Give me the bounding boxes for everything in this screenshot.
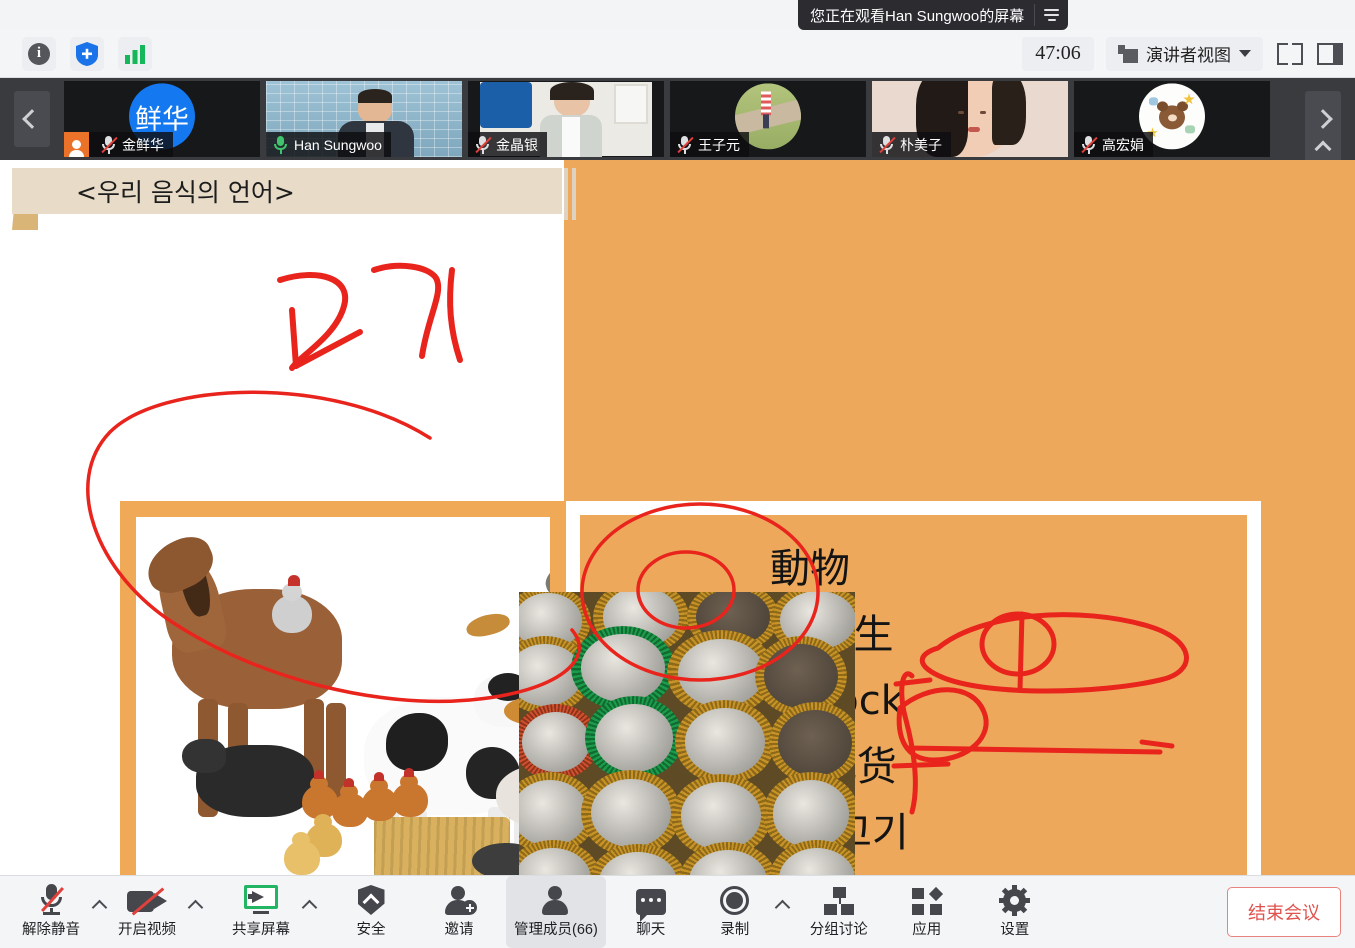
participant-name: Han Sungwoo [294, 137, 382, 153]
participant-namebar: 高宏娟 [1074, 132, 1153, 157]
filmstrip-collapse-button[interactable] [1305, 138, 1341, 160]
chevron-down-icon [1239, 50, 1251, 57]
security-button[interactable]: 安全 [334, 876, 408, 948]
participant-namebar: 金鲜华 [64, 132, 173, 157]
unmute-button[interactable]: 解除静音 [14, 879, 88, 945]
info-icon[interactable]: i [22, 37, 56, 71]
share-options-caret[interactable] [298, 902, 320, 913]
participant-namebar: 金晶银 [468, 132, 547, 157]
chevron-up-icon [91, 899, 107, 915]
record-icon [720, 886, 749, 915]
participant-tile-jinxianhua[interactable]: 鲜华 金鲜华 [64, 81, 260, 157]
participant-name: 金晶银 [496, 135, 538, 155]
top-toolbar: i 47:06 演讲者视图 [0, 30, 1355, 78]
microphone-muted-icon [100, 135, 117, 154]
security-label: 安全 [357, 918, 386, 939]
participant-tile-wangziyuan[interactable]: 王子元 [670, 81, 866, 157]
slide-title-ticks [563, 168, 585, 220]
chat-button[interactable]: 聊天 [614, 876, 688, 948]
meeting-timer: 47:06 [1022, 37, 1094, 71]
invite-person-icon [444, 886, 474, 915]
chevron-up-icon [187, 899, 203, 915]
participant-name: 金鲜华 [122, 135, 164, 155]
hamburger-icon[interactable] [1034, 4, 1060, 26]
chat-bubble-icon [636, 889, 666, 915]
record-button[interactable]: 录制 [698, 879, 772, 945]
settings-label: 设置 [1000, 918, 1029, 939]
fish-market-image [519, 592, 855, 875]
microphone-muted-icon [474, 135, 491, 154]
video-options-caret[interactable] [184, 902, 206, 913]
manage-participants-label: 管理成员(66) [514, 918, 598, 939]
participant-namebar: Han Sungwoo [266, 132, 391, 157]
slide-title-band: <우리 음식의 언어> [12, 168, 562, 214]
speaker-view-icon [1118, 45, 1138, 63]
presentation-slide: <우리 음식의 언어> [0, 160, 1355, 875]
apps-icon [911, 887, 943, 915]
filmstrip-prev-button[interactable] [0, 78, 64, 160]
microphone-muted-icon [38, 884, 65, 915]
view-mode-selector[interactable]: 演讲者视图 [1106, 37, 1263, 71]
start-video-button[interactable]: 开启视频 [110, 879, 184, 945]
microphone-muted-icon [1080, 135, 1097, 154]
manage-participants-button[interactable]: 管理成员(66) [506, 876, 606, 948]
participant-tile-pumeizi[interactable]: 朴美子 [872, 81, 1068, 157]
participant-tile-han-sungwoo[interactable]: Han Sungwoo [266, 81, 462, 157]
microphone-muted-icon [878, 135, 895, 154]
participant-tile-gaohongjuan[interactable]: 高宏娟 [1074, 81, 1270, 157]
record-options-caret[interactable] [772, 902, 794, 913]
filmstrip-tiles: 鲜华 金鲜华 [64, 78, 1291, 160]
shield-plus-icon[interactable] [70, 37, 104, 71]
page-title: <우리 음식의 언어> [76, 173, 295, 209]
participant-filmstrip: 鲜华 金鲜华 [0, 78, 1355, 160]
participant-namebar: 王子元 [670, 132, 749, 157]
start-video-label: 开启视频 [118, 918, 176, 939]
chevron-left-icon [22, 109, 42, 129]
breakout-rooms-button[interactable]: 分组讨论 [802, 876, 876, 948]
bars-glyph [123, 43, 147, 65]
watching-screen-label: 您正在观看Han Sungwoo的屏幕 [810, 5, 1024, 26]
farm-animals-image [136, 517, 550, 875]
side-panel-icon[interactable] [1317, 43, 1343, 65]
host-badge [64, 132, 89, 157]
fullscreen-icon[interactable] [1275, 39, 1305, 69]
view-mode-label: 演讲者视图 [1146, 41, 1231, 66]
chevron-up-icon [775, 899, 791, 915]
apps-label: 应用 [912, 918, 941, 939]
settings-button[interactable]: 设置 [978, 876, 1052, 948]
record-label: 录制 [720, 918, 749, 939]
invite-button[interactable]: 邀请 [422, 876, 496, 948]
end-meeting-button[interactable]: 结束会议 [1227, 887, 1341, 937]
breakout-rooms-label: 分组讨论 [810, 918, 868, 939]
microphone-muted-icon [676, 135, 693, 154]
handwritten-annotation-gogi [280, 266, 460, 368]
participant-name: 朴美子 [900, 135, 942, 155]
shield-plus-glyph [75, 41, 99, 67]
chevron-right-icon [1313, 109, 1333, 129]
share-screen-label: 共享屏幕 [232, 918, 290, 939]
invite-label: 邀请 [445, 918, 474, 939]
shield-icon [358, 885, 385, 915]
gear-icon [1000, 886, 1029, 915]
participants-icon [541, 886, 571, 915]
share-screen-button[interactable]: 共享屏幕 [224, 879, 298, 945]
apps-button[interactable]: 应用 [890, 876, 964, 948]
participant-name: 王子元 [698, 135, 740, 155]
info-icon-label: i [28, 43, 50, 65]
unmute-label: 解除静音 [22, 918, 80, 939]
audio-options-caret[interactable] [88, 902, 110, 913]
microphone-active-icon [272, 135, 289, 154]
breakout-rooms-icon [823, 887, 855, 915]
chevron-up-icon [301, 899, 317, 915]
camera-off-icon [127, 888, 167, 915]
zoom-meeting-window: 您正在观看Han Sungwoo的屏幕 i [0, 0, 1355, 948]
watching-screen-banner: 您正在观看Han Sungwoo的屏幕 [798, 0, 1068, 30]
share-screen-icon [242, 885, 280, 915]
animal-photo-frame [120, 501, 566, 875]
participant-namebar: 朴美子 [872, 132, 951, 157]
chevron-up-icon [1315, 141, 1332, 158]
shared-screen-view: <우리 음식의 언어> [0, 160, 1355, 875]
participant-tile-jinjingyin[interactable]: 金晶银 [468, 81, 664, 157]
participant-name: 高宏娟 [1102, 135, 1144, 155]
bottom-toolbar: 解除静音 开启视频 共享屏幕 安全 [0, 875, 1355, 948]
network-stats-icon[interactable] [118, 37, 152, 71]
